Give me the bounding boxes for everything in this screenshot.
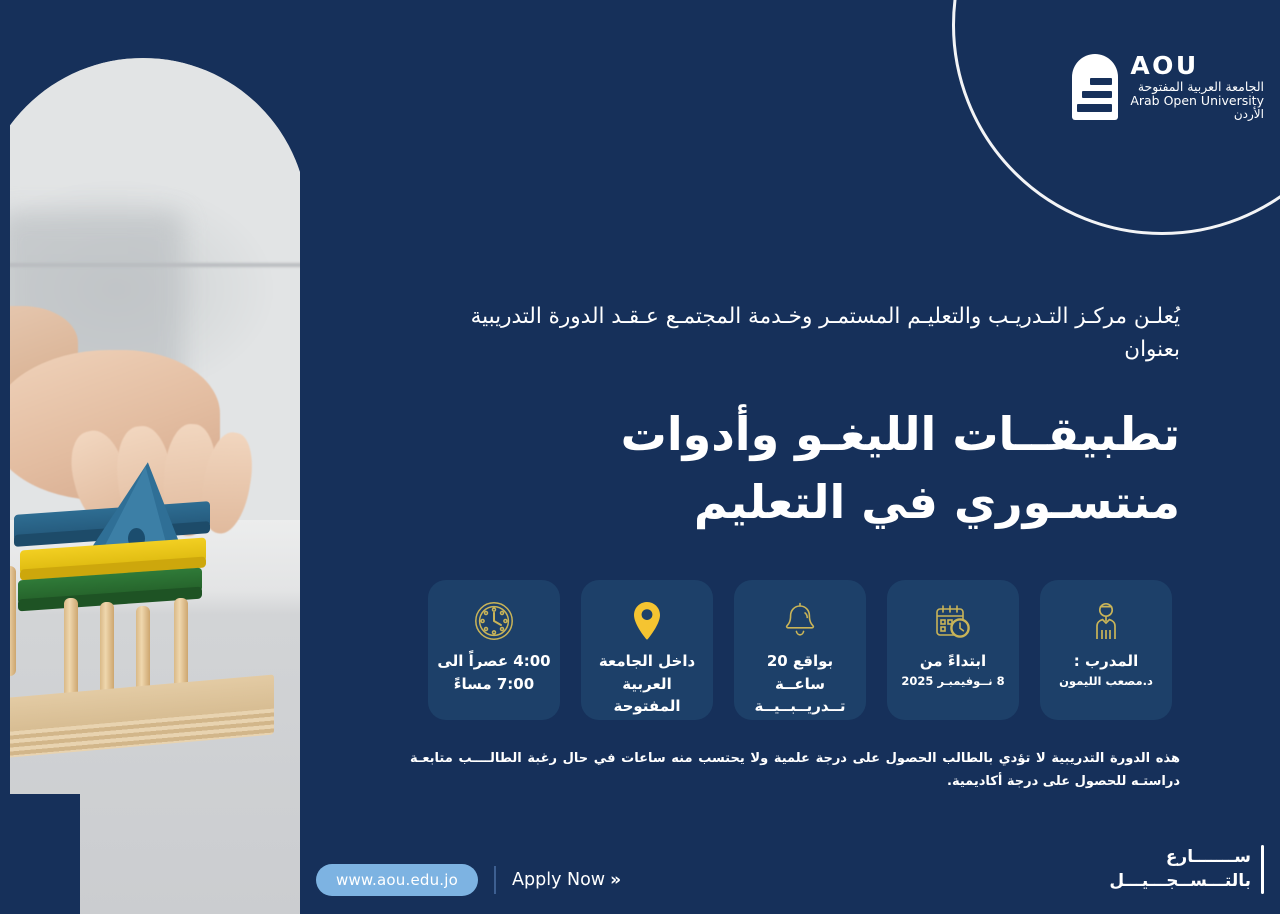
announcement-kicker: يُعلـن مركـز التـدريـب والتعليـم المستمـ… (410, 300, 1180, 367)
photo-panel (0, 0, 300, 914)
footer-divider (494, 866, 496, 894)
info-card-start-date: ابتداءً من 8 نــوفيمبـر 2025 (887, 580, 1019, 720)
photo-table-edge (0, 263, 300, 267)
info-cards: المدرب : د.مصعب الليمون (410, 580, 1172, 720)
footer-bar: www.aou.edu.jo Apply Now » (316, 864, 621, 896)
hurry-line-1: ســـــــارع (1109, 845, 1251, 870)
photo-bottom-navy-wedge (0, 794, 80, 914)
hurry-text-block: ســـــــارع بالتـــســجـــيـــل (1109, 845, 1251, 894)
info-card-location: داخل الجامعة العربية المفتوحة (581, 580, 713, 720)
info-card-sub: 8 نــوفيمبـر 2025 (896, 673, 1009, 690)
content-column: يُعلـن مركـز التـدريـب والتعليـم المستمـ… (410, 0, 1180, 914)
info-card-label: ابتداءً من (913, 650, 993, 673)
chevron-right-double-icon: » (610, 870, 621, 890)
calendar-clock-icon (934, 596, 972, 646)
info-card-label: المدرب : (1067, 650, 1145, 673)
website-url-button[interactable]: www.aou.edu.jo (316, 864, 478, 896)
info-card-label: داخل الجامعة العربية المفتوحة (581, 650, 713, 718)
photo-arch-mask (0, 58, 300, 914)
info-card-sub: د.مصعب الليمون (1054, 673, 1158, 690)
info-card-label: 4:00 عصراً الى 7:00 مساءً (428, 650, 560, 695)
hurry-line-2: بالتـــســجـــيـــل (1109, 869, 1251, 894)
info-card-hours: بواقع 20 ساعــة تــدريــبــيــة (734, 580, 866, 720)
clock-icon (474, 596, 514, 646)
course-title: تطبيقــات الليغـو وأدوات منتسـوري في الت… (410, 400, 1180, 536)
hurry-register-cta: ســـــــارع بالتـــســجـــيـــل (1109, 845, 1264, 894)
disclaimer-text: هذه الدورة التدريبية لا تؤدي بالطالب الح… (410, 748, 1180, 794)
apply-now-label: Apply Now (512, 870, 605, 890)
photo-wooden-dowel (64, 598, 78, 706)
bell-icon (782, 596, 818, 646)
photo-left-navy-strip (0, 0, 10, 914)
info-card-label: بواقع 20 ساعــة تــدريــبــيــة (734, 650, 866, 718)
info-card-trainer: المدرب : د.مصعب الليمون (1040, 580, 1172, 720)
hurry-accent-bar (1261, 845, 1264, 894)
poster-canvas: AOU الجامعة العربية المفتوحة Arab Open U… (0, 0, 1280, 914)
trainer-person-icon (1089, 596, 1123, 646)
info-card-time: 4:00 عصراً الى 7:00 مساءً (428, 580, 560, 720)
location-pin-icon (631, 596, 663, 646)
apply-now-button[interactable]: Apply Now » (512, 870, 621, 890)
